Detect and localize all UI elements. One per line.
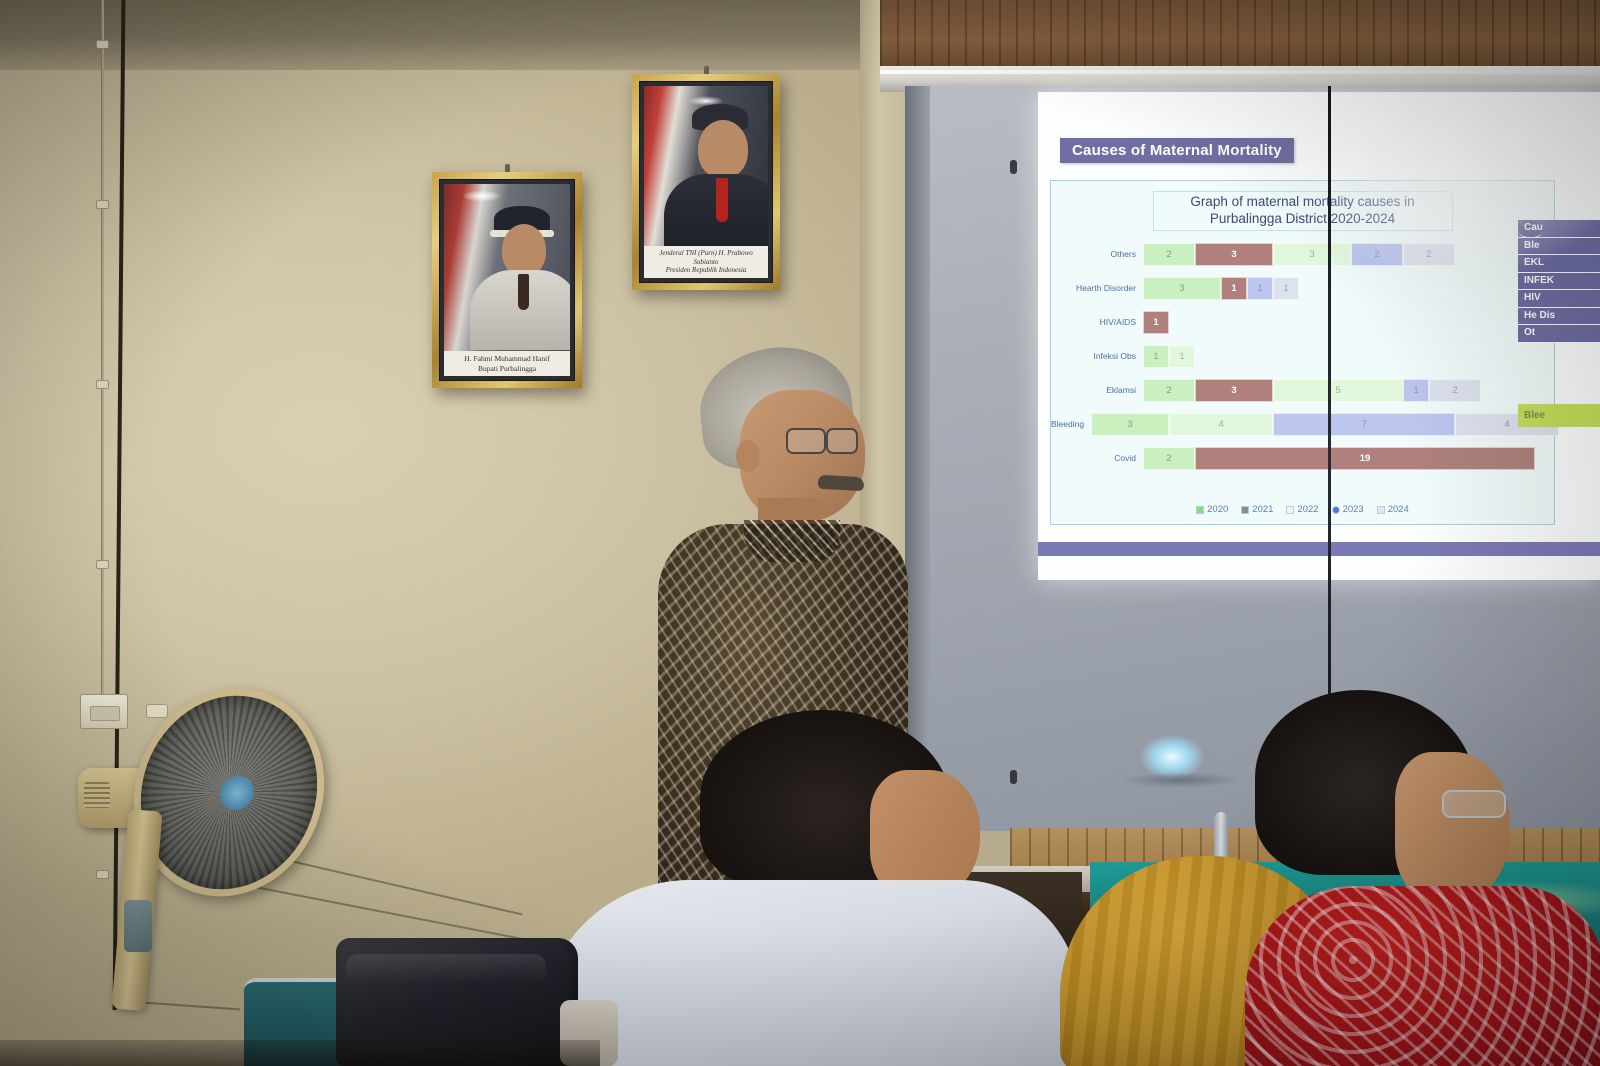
fan-control-plate[interactable] [124, 900, 152, 952]
chart-title: Graph of maternal mortality causes in Pu… [1153, 191, 1453, 231]
room-scene: H. Fahmi Muhammad Hanif Bupati Purbaling… [0, 0, 1600, 1066]
chart-segment-2022: 3 [1273, 243, 1351, 266]
slide-footer-bar [1038, 542, 1600, 556]
side-table-row: HIV [1518, 290, 1600, 308]
cable-clip [96, 40, 109, 49]
chart-row: Eklamsi23512 [1051, 373, 1554, 407]
chart-segment-2021: 19 [1195, 447, 1535, 470]
screen-hook-icon [1010, 160, 1017, 174]
chart-row-label: Covid [1051, 453, 1143, 463]
legend-label: 2023 [1343, 504, 1364, 515]
chart-row: Infeksi Obs11 [1051, 339, 1554, 373]
chart-segment-2021: 1 [1143, 311, 1169, 334]
legend-label: 2020 [1207, 504, 1228, 515]
portrait-head [698, 120, 748, 178]
chart-segment-2021: 3 [1195, 243, 1273, 266]
chart-segment-2021: 1 [1221, 277, 1247, 300]
legend-swatch-icon [1286, 506, 1294, 514]
audience-face [1395, 752, 1510, 902]
chart-segment-2022: 1 [1169, 345, 1195, 368]
chart-bar-stack: 23512 [1143, 379, 1481, 402]
chart-row: Covid219 [1051, 441, 1554, 475]
chart-row: Hearth Disorder3111 [1051, 271, 1554, 305]
legend-item: 2020 [1196, 504, 1228, 515]
glasses-icon [1420, 790, 1520, 816]
cable-clip [96, 380, 109, 389]
chart-row-label: HIV/AIDS [1051, 317, 1143, 327]
chart-segment-2024: 2 [1429, 379, 1481, 402]
legend-swatch-icon [1332, 506, 1340, 514]
fan-hub [220, 774, 255, 813]
frame-inner: Jenderal TNI (Purn) H. Prabowo Subianto … [639, 81, 773, 283]
caption-role: Presiden Republik Indonesia [646, 266, 766, 275]
slide-title: Causes of Maternal Mortality [1060, 138, 1294, 163]
audience-member-white-shirt [540, 700, 1080, 1066]
legend-item: 2021 [1241, 504, 1273, 515]
wall-fan[interactable] [78, 690, 248, 920]
portrait-photo-bupati [444, 184, 570, 351]
chart-segment-2020: 2 [1143, 379, 1195, 402]
presenter-ear [736, 440, 760, 472]
chart-segment-2020: 1 [1143, 345, 1169, 368]
legend-label: 2022 [1297, 504, 1318, 515]
side-table-row: EKL [1518, 255, 1600, 273]
chart-row-label: Infeksi Obs [1051, 351, 1143, 361]
foreground-shadow [0, 1040, 600, 1066]
caption-name: H. Fahmi Muhammad Hanif [446, 354, 568, 363]
chart-bar-stack: 3111 [1143, 277, 1299, 300]
legend-item: 2022 [1286, 504, 1318, 515]
chart-segment-2020: 3 [1091, 413, 1169, 436]
side-table-header: Cau [1518, 220, 1543, 238]
side-summary-table: CauCOBleEKLINFEKHIVHe DisOt [1518, 220, 1600, 343]
side-table-highlight: Blee [1518, 404, 1600, 427]
chart-segment-2023: 1 [1403, 379, 1429, 402]
chart-row-label: Bleeding [1051, 419, 1091, 429]
chart-segment-2020: 2 [1143, 447, 1195, 470]
chart-segment-2024: 1 [1273, 277, 1299, 300]
legend-item: 2023 [1332, 504, 1364, 515]
portrait-photo-presiden [644, 86, 768, 246]
chart-row-label: Eklamsi [1051, 385, 1143, 395]
caption-role: Bupati Purbalingga [446, 364, 568, 373]
glasses-icon [786, 428, 866, 452]
portrait-caption-presiden: Jenderal TNI (Purn) H. Prabowo Subianto … [644, 246, 768, 278]
wall-upper-shadow [0, 0, 890, 70]
ceiling-wood-panel [880, 0, 1600, 72]
portrait-tie [716, 178, 728, 222]
legend-item: 2024 [1377, 504, 1409, 515]
chart-row-label: Hearth Disorder [1051, 283, 1143, 293]
chart-bar-stack: 23322 [1143, 243, 1455, 266]
chart-bar-stack: 1 [1143, 311, 1169, 334]
legend-label: 2024 [1388, 504, 1409, 515]
chart-segment-2021: 3 [1195, 379, 1273, 402]
legend-swatch-icon [1241, 506, 1249, 514]
legend-swatch-icon [1377, 506, 1385, 514]
chart-row-label: Others [1051, 249, 1143, 259]
frame-inner: H. Fahmi Muhammad Hanif Bupati Purbaling… [439, 179, 575, 381]
chart-segment-2022: 5 [1273, 379, 1403, 402]
legend-swatch-icon [1196, 506, 1204, 514]
chart-rows: Others23322Hearth Disorder3111HIV/AIDS1I… [1051, 237, 1554, 475]
portrait-frame-bupati: H. Fahmi Muhammad Hanif Bupati Purbaling… [432, 172, 582, 388]
side-table-row: He Dis [1518, 308, 1600, 326]
chart-legend: 20202021202220232024 [1051, 504, 1554, 515]
chart-segment-2023: 1 [1247, 277, 1273, 300]
presenter-mustache [818, 475, 865, 491]
portrait-caption-bupati: H. Fahmi Muhammad Hanif Bupati Purbaling… [444, 351, 570, 376]
portrait-head [502, 224, 546, 276]
chart-bar-stack: 11 [1143, 345, 1195, 368]
chart-bar-stack: 219 [1143, 447, 1535, 470]
presentation-slide: Causes of Maternal Mortality Graph of ma… [1038, 92, 1600, 580]
glass-glare [462, 190, 502, 202]
legend-label: 2021 [1252, 504, 1273, 515]
side-table-row: Ot [1518, 325, 1600, 343]
cable-clip [96, 560, 109, 569]
projector-shadow [1120, 772, 1240, 788]
chart-row: HIV/AIDS1 [1051, 305, 1554, 339]
chart-row: Bleeding3474 [1051, 407, 1554, 441]
wall-cable-grey [101, 0, 104, 700]
chart-container: Graph of maternal mortality causes in Pu… [1050, 180, 1555, 525]
chart-segment-2024: 2 [1403, 243, 1455, 266]
chart-segment-2020: 2 [1143, 243, 1195, 266]
audience-red-batik-shirt [1245, 886, 1600, 1066]
chart-segment-2022: 4 [1169, 413, 1273, 436]
caption-name: Jenderal TNI (Purn) H. Prabowo Subianto [646, 249, 766, 267]
chart-row: Others23322 [1051, 237, 1554, 271]
cable-clip [96, 200, 109, 209]
chart-segment-2023: 2 [1351, 243, 1403, 266]
chart-bar-stack: 3474 [1091, 413, 1559, 436]
portrait-tie [518, 274, 529, 310]
audience-white-shirt [540, 880, 1080, 1066]
presenter-collar [744, 520, 840, 562]
chart-segment-2023: 7 [1273, 413, 1455, 436]
side-table-row: INFEK [1518, 273, 1600, 291]
audience-member-red-batik [1245, 690, 1600, 1066]
side-table-row: Ble [1518, 238, 1600, 256]
portrait-frame-presiden: Jenderal TNI (Purn) H. Prabowo Subianto … [632, 74, 780, 290]
chart-segment-2020: 3 [1143, 277, 1221, 300]
